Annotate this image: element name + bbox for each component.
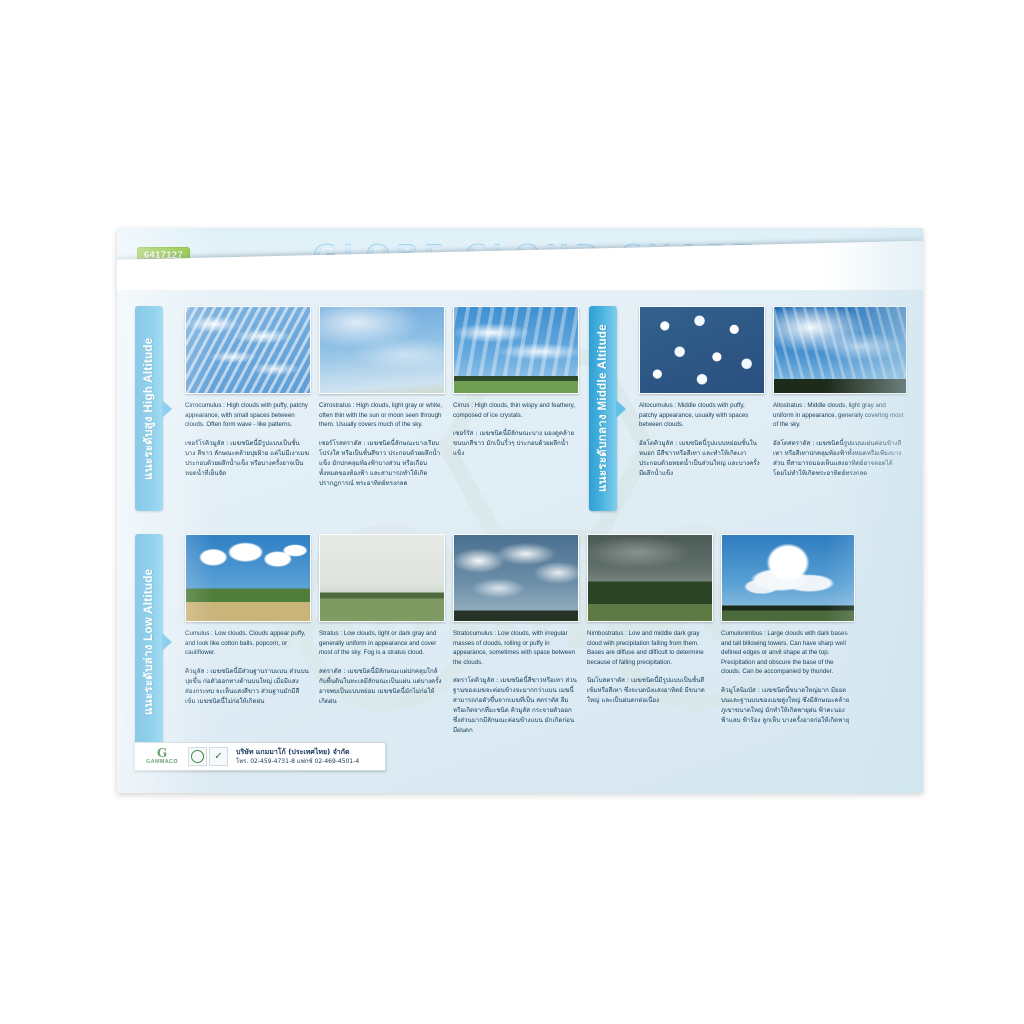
cloud-photo-stratus bbox=[319, 534, 445, 622]
cloud-card-stratocumulus: Stratocumulus : Low clouds, with irregul… bbox=[453, 534, 577, 736]
cloud-th-cirrostratus: เซอร์โรสตราตัส : เมฆชนิดนี้ลักษณะบางเรีย… bbox=[319, 439, 443, 489]
cloud-th-cumulus: คิวมูลัส : เมฆชนิดนี้มีส่วนฐานราบแบน ส่ว… bbox=[185, 667, 309, 707]
cloud-photo-cirrocumulus bbox=[185, 306, 311, 394]
cloud-en-altostratus: Altostratus : Middle clouds, light gray … bbox=[773, 401, 905, 430]
cert-seal-icon bbox=[188, 747, 207, 766]
cloud-photo-stratocumulus bbox=[453, 534, 579, 622]
altitude-tab-high-arrow bbox=[162, 400, 172, 418]
altitude-tab-high: แนะระดับสูง High Altitude bbox=[135, 306, 163, 511]
cloud-en-stratocumulus: Stratocumulus : Low clouds, with irregul… bbox=[453, 629, 577, 667]
company-info: บริษัท แกมมาโก้ (ประเทศไทย) จำกัด โทร. 0… bbox=[236, 747, 359, 767]
cloud-en-nimbostratus: Nimbostratus : Low and middle dark gray … bbox=[587, 629, 711, 667]
cloud-photo-altostratus bbox=[773, 306, 907, 394]
cloud-card-cumulus: Cumulus : Low clouds. Clouds appear puff… bbox=[185, 534, 309, 707]
cloud-photo-cumulus bbox=[185, 534, 311, 622]
altitude-tab-low-arrow bbox=[162, 633, 172, 651]
altitude-tab-middle-arrow bbox=[616, 400, 626, 418]
altitude-tab-middle: แนะระดับกลาง Middle Altitude bbox=[589, 306, 617, 511]
row-high-middle-altitude: แนะระดับสูง High Altitude Cirrocumulus :… bbox=[117, 306, 923, 526]
altitude-tab-high-label: แนะระดับสูง High Altitude bbox=[135, 306, 163, 511]
cloud-card-altocumulus: Altocumulus : Middle clouds with puffy, … bbox=[639, 306, 763, 479]
altitude-tab-middle-label: แนะระดับกลาง Middle Altitude bbox=[589, 306, 617, 511]
cloud-th-stratocumulus: สตราโตคิวมูลัส : เมฆชนิดนี้สีขาวหรือเทา … bbox=[453, 676, 577, 736]
cloud-th-altocumulus: อัลโตคิวมูลัส : เมฆชนิดนี้รูปแบบหย่อมชั้… bbox=[639, 439, 763, 479]
altitude-tab-low: แนะระดับล่าง Low Altitude bbox=[135, 534, 163, 749]
certification-badges: ✓ bbox=[188, 747, 228, 766]
cloud-card-stratus: Stratus : Low clouds, light or dark gray… bbox=[319, 534, 443, 707]
cloud-photo-nimbostratus bbox=[587, 534, 713, 622]
cloud-th-cirrus: เซอร์รัส : เมฆชนิดนี้มีลักษณะบาง มองดูคล… bbox=[453, 429, 577, 459]
cloud-card-nimbostratus: Nimbostratus : Low and middle dark gray … bbox=[587, 534, 711, 706]
cloud-en-cumulonimbus: Cumulonimbus : Large clouds with dark ba… bbox=[721, 629, 853, 677]
cloud-card-cirrocumulus: Cirrocumulus : High clouds with puffy, p… bbox=[185, 306, 309, 479]
altitude-tab-low-label: แนะระดับล่าง Low Altitude bbox=[135, 534, 163, 749]
gammaco-logo-name: GAMMACO bbox=[146, 759, 178, 765]
cloud-en-cirrocumulus: Cirrocumulus : High clouds with puffy, p… bbox=[185, 401, 309, 430]
cloud-chart-poster: GAMMACO GLOBE CLOUD CHART GLOBE CLOUD CH… bbox=[117, 228, 923, 793]
cloud-photo-cirrus bbox=[453, 306, 579, 394]
screenshot-canvas: GAMMACO GLOBE CLOUD CHART GLOBE CLOUD CH… bbox=[0, 0, 1024, 1024]
company-footer-bar: G GAMMACO ✓ บริษัท แกมมาโก้ (ประเทศไทย) … bbox=[134, 742, 386, 771]
cloud-photo-altocumulus bbox=[639, 306, 765, 394]
cloud-th-stratus: สตราตัส : เมฆชนิดนี้มีลักษณะแผ่ปกคลุมใกล… bbox=[319, 667, 443, 707]
cloud-card-cirrus: Cirrus : High clouds, thin wispy and fea… bbox=[453, 306, 577, 459]
cloud-card-cirrostratus: Cirrostratus : High clouds, light gray o… bbox=[319, 306, 443, 489]
cloud-th-altostratus: อัลโตสตราตัส : เมฆชนิดนี้รูปแบบแผ่นค่อนข… bbox=[773, 439, 905, 479]
cloud-card-cumulonimbus: Cumulonimbus : Large clouds with dark ba… bbox=[721, 534, 853, 726]
cloud-photo-cirrostratus bbox=[319, 306, 445, 394]
gammaco-logo-mark: G bbox=[157, 748, 167, 759]
cloud-th-cumulonimbus: คิวมูโลนิมบัส : เมฆชนิดนี้ขนาดใหญ่มาก มี… bbox=[721, 686, 853, 726]
company-name: บริษัท แกมมาโก้ (ประเทศไทย) จำกัด bbox=[236, 747, 359, 757]
cloud-en-altocumulus: Altocumulus : Middle clouds with puffy, … bbox=[639, 401, 763, 430]
cloud-en-cirrus: Cirrus : High clouds, thin wispy and fea… bbox=[453, 401, 577, 420]
cloud-th-nimbostratus: นิมโบสตราตัส : เมฆชนิดนี้มีรูปแบบเป็นชั้… bbox=[587, 676, 711, 706]
cloud-en-cirrostratus: Cirrostratus : High clouds, light gray o… bbox=[319, 401, 443, 430]
gammaco-logo: G GAMMACO bbox=[138, 745, 186, 769]
cloud-photo-cumulonimbus bbox=[721, 534, 855, 622]
company-contact: โทร. 02-459-4731-8 แฟกซ์ 02-469-4501-4 bbox=[236, 757, 359, 767]
cloud-th-cirrocumulus: เซอร์โรคิวมูลัส : เมฆชนิดนี้มีรูปแบบเป็น… bbox=[185, 439, 309, 479]
cloud-card-altostratus: Altostratus : Middle clouds, light gray … bbox=[773, 306, 905, 479]
cloud-en-stratus: Stratus : Low clouds, light or dark gray… bbox=[319, 629, 443, 658]
cloud-en-cumulus: Cumulus : Low clouds. Clouds appear puff… bbox=[185, 629, 309, 658]
poster-header: GLOBE CLOUD CHART GLOBE CLOUD CHART 6417… bbox=[117, 228, 923, 290]
cert-check-icon: ✓ bbox=[209, 747, 228, 766]
